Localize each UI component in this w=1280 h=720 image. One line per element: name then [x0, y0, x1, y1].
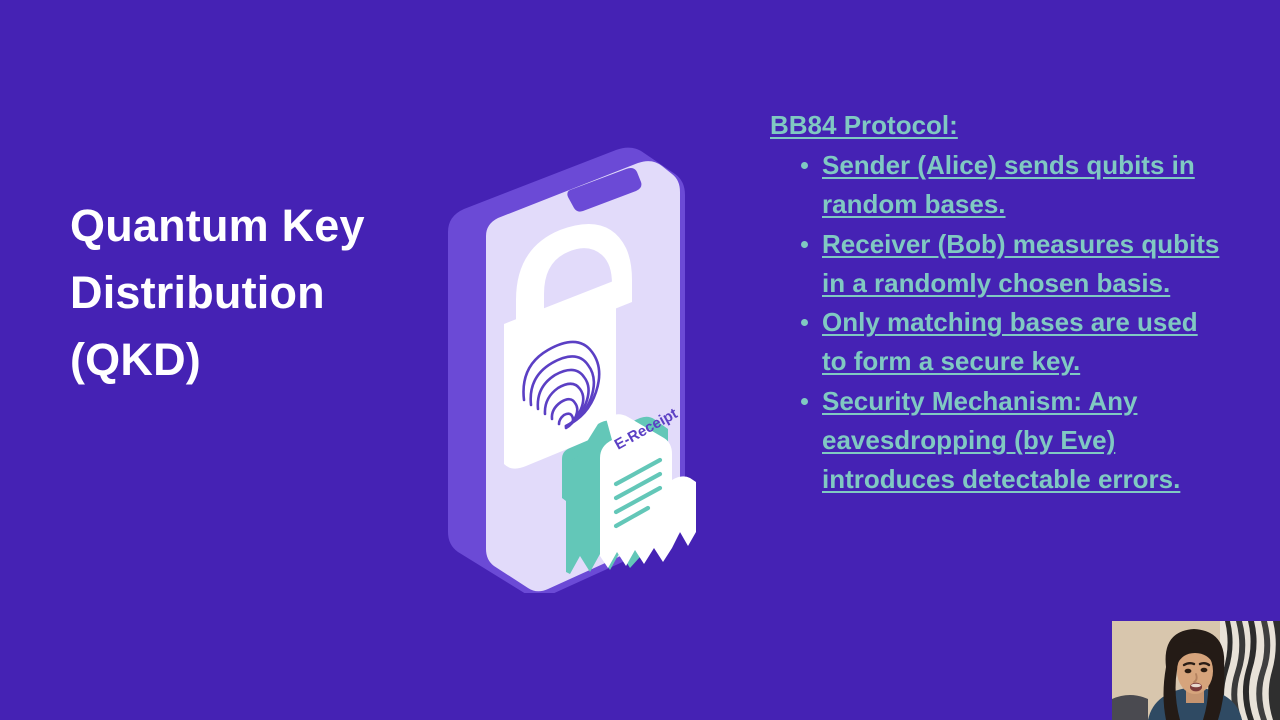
list-item-label: Sender (Alice) sends qubits in random ba…: [822, 150, 1195, 219]
list-item: Security Mechanism: Any eavesdropping (b…: [800, 382, 1220, 500]
illustration-phone-security: E-Receipt: [420, 128, 710, 593]
bb84-content-block: BB84 Protocol: Sender (Alice) sends qubi…: [770, 106, 1220, 500]
title-line-1: Quantum Key: [70, 192, 420, 259]
slide-canvas: Quantum Key Distribution (QKD): [0, 0, 1280, 720]
page-title: Quantum Key Distribution (QKD): [70, 192, 420, 393]
title-line-2: Distribution: [70, 259, 420, 326]
list-item-label: Receiver (Bob) measures qubits in a rand…: [822, 229, 1219, 298]
bb84-heading: BB84 Protocol:: [770, 106, 1220, 145]
bullet-dot-icon: [801, 162, 808, 169]
list-item: Only matching bases are used to form a s…: [800, 303, 1220, 382]
presenter-video-overlay[interactable]: [1112, 621, 1280, 720]
list-item-label: Security Mechanism: Any eavesdropping (b…: [822, 386, 1180, 495]
title-line-3: (QKD): [70, 326, 420, 393]
bullet-list: Sender (Alice) sends qubits in random ba…: [770, 146, 1220, 500]
list-item-label: Only matching bases are used to form a s…: [822, 307, 1198, 376]
list-item: Sender (Alice) sends qubits in random ba…: [800, 146, 1220, 225]
bullet-dot-icon: [801, 319, 808, 326]
list-item: Receiver (Bob) measures qubits in a rand…: [800, 225, 1220, 304]
bullet-dot-icon: [801, 398, 808, 405]
bullet-dot-icon: [801, 241, 808, 248]
